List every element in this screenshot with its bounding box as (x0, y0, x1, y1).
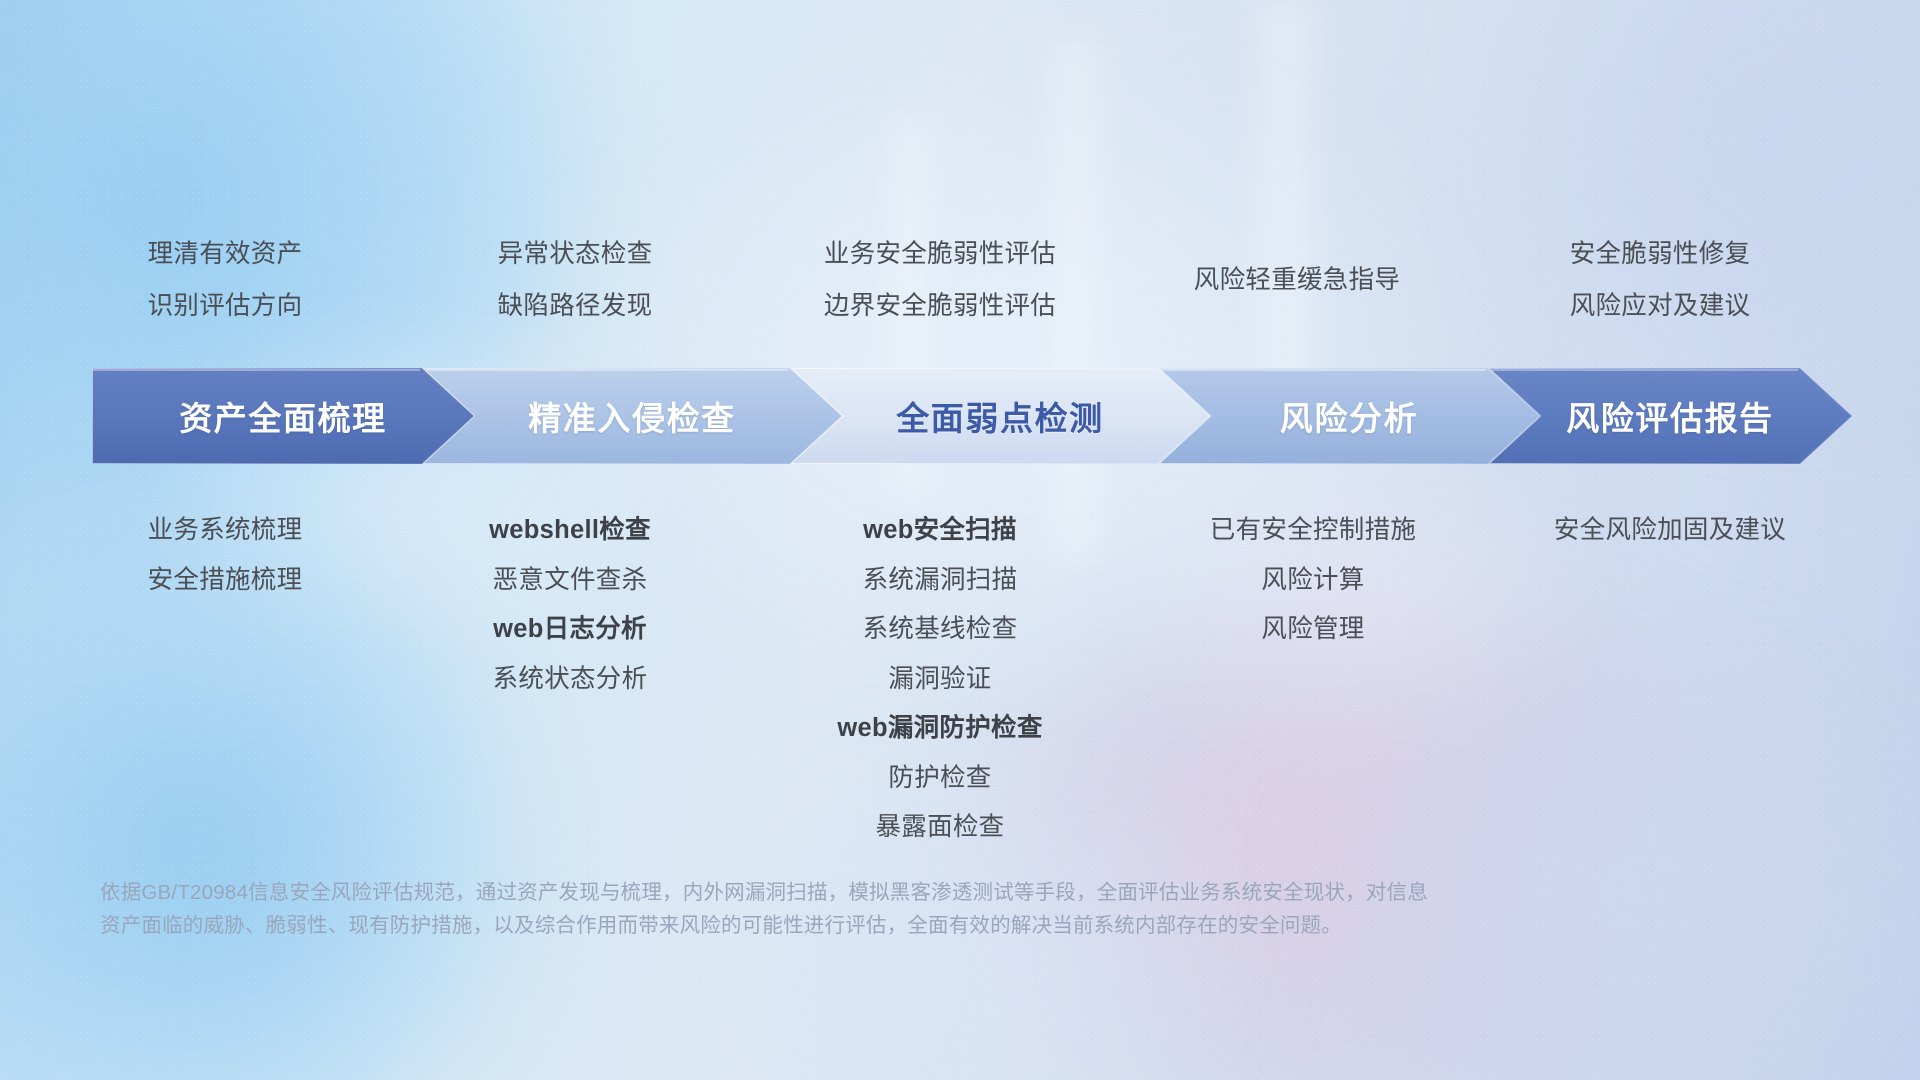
stage-upper-items-intrusion-check: 异常状态检查 缺陷路径发现 (390, 242, 760, 319)
lower-item: 风险计算 (1261, 568, 1364, 594)
lower-item: web漏洞防护检查 (837, 716, 1042, 742)
upper-item: 风险应对及建议 (1570, 294, 1751, 320)
process-flow-banner: 资产全面梳理 (92, 368, 1852, 464)
lower-item: 安全措施梳理 (148, 568, 303, 594)
footer-line-1: 依据GB/T20984信息安全风险评估规范，通过资产发现与梳理，内外网漏洞扫描，… (100, 876, 1620, 909)
footer-line-2: 资产面临的威胁、脆弱性、现有防护措施，以及综合作用而带来风险的可能性进行评估，全… (100, 909, 1620, 942)
lower-item: 防护检查 (888, 766, 991, 792)
lower-item: 恶意文件查杀 (493, 568, 648, 594)
lower-item: web日志分析 (493, 617, 647, 643)
stage-lower-items-risk-report: 安全风险加固及建议 (1480, 518, 1860, 544)
lower-item: 系统漏洞扫描 (863, 568, 1018, 594)
process-stage-label: 风险评估报告 (1566, 392, 1774, 440)
upper-item: 安全脆弱性修复 (1570, 242, 1751, 268)
lower-item: 风险管理 (1261, 617, 1364, 643)
lower-item: 安全风险加固及建议 (1554, 518, 1786, 544)
lower-item: 漏洞验证 (888, 667, 991, 693)
process-stage-label: 风险分析 (1280, 392, 1418, 440)
process-stage-label: 全面弱点检测 (896, 392, 1104, 440)
lower-item: webshell检查 (489, 518, 651, 544)
stage-lower-items-asset-inventory: 业务系统梳理 安全措施梳理 (40, 518, 410, 593)
upper-item: 业务安全脆弱性评估 (824, 242, 1056, 268)
stage-upper-items-risk-report: 安全脆弱性修复 风险应对及建议 (1475, 242, 1845, 319)
process-stage-weakness-detection[interactable]: 全面弱点检测 (790, 368, 1210, 464)
process-stage-risk-analysis[interactable]: 风险分析 (1158, 368, 1540, 464)
upper-item: 缺陷路径发现 (498, 294, 653, 320)
lower-item: 暴露面检查 (875, 815, 1004, 841)
process-stage-asset-inventory[interactable]: 资产全面梳理 (92, 368, 474, 464)
lower-item: 业务系统梳理 (148, 518, 303, 544)
upper-item: 边界安全脆弱性评估 (824, 294, 1056, 320)
lower-item: web安全扫描 (863, 518, 1017, 544)
upper-item: 理清有效资产 (148, 242, 303, 268)
stage-lower-items-weakness-detection: web安全扫描 系统漏洞扫描 系统基线检查 漏洞验证 web漏洞防护检查 防护检… (745, 518, 1135, 841)
slide-canvas: 理清有效资产 识别评估方向 异常状态检查 缺陷路径发现 业务安全脆弱性评估 边界… (0, 0, 1920, 1080)
upper-item: 识别评估方向 (148, 294, 303, 320)
upper-item: 异常状态检查 (498, 242, 653, 268)
footer-description: 依据GB/T20984信息安全风险评估规范，通过资产发现与梳理，内外网漏洞扫描，… (100, 876, 1620, 942)
upper-item: 风险轻重缓急指导 (1194, 268, 1400, 294)
lower-item: 系统基线检查 (863, 617, 1018, 643)
stage-upper-items-weakness-detection: 业务安全脆弱性评估 边界安全脆弱性评估 (755, 242, 1125, 319)
process-stage-label: 资产全面梳理 (179, 392, 387, 440)
stage-lower-items-intrusion-check: webshell检查 恶意文件查杀 web日志分析 系统状态分析 (385, 518, 755, 692)
stage-upper-items-risk-analysis: 风险轻重缓急指导 (1112, 268, 1482, 294)
lower-item: 已有安全控制措施 (1210, 518, 1416, 544)
lower-item: 系统状态分析 (493, 667, 648, 693)
process-stage-risk-report[interactable]: 风险评估报告 (1488, 368, 1852, 464)
stage-lower-items-risk-analysis: 已有安全控制措施 风险计算 风险管理 (1128, 518, 1498, 643)
process-stage-label: 精准入侵检查 (528, 392, 736, 440)
process-stage-intrusion-check[interactable]: 精准入侵检查 (422, 368, 842, 464)
stage-upper-items-asset-inventory: 理清有效资产 识别评估方向 (40, 242, 410, 319)
